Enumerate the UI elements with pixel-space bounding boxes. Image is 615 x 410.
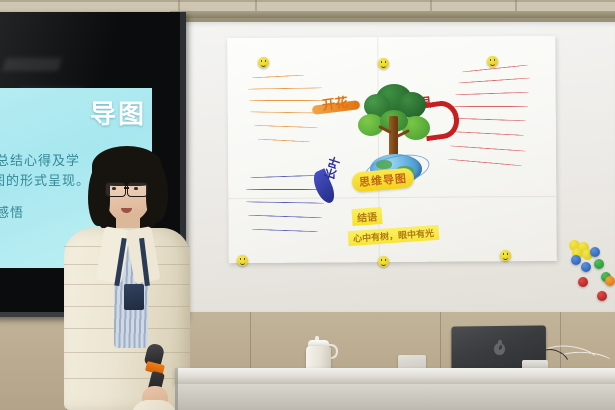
eyeglasses-left-lens (105, 182, 126, 197)
handwriting-line (246, 189, 322, 190)
eyeglasses-bridge (124, 187, 129, 189)
smiley-magnet[interactable] (500, 250, 511, 261)
magnet-dot-blue[interactable] (590, 247, 600, 257)
desk-front-panel (175, 384, 615, 410)
smiley-magnet[interactable] (237, 255, 248, 266)
branch-label-bloom: 开花 (321, 91, 349, 113)
magnet-dot-red[interactable] (578, 277, 588, 287)
poster-footer-label: 结语 (351, 207, 382, 226)
presenter (62, 148, 192, 410)
magnet-dot-red[interactable] (597, 291, 607, 301)
presenter-desk (175, 368, 615, 384)
tree-illustration (356, 84, 434, 176)
classroom-scene: 开花 扎根 长叶 思维导图 结语 心中有树，眼中有光 (0, 0, 615, 410)
magnet-dot-orange[interactable] (605, 276, 615, 286)
magnet-dot-green[interactable] (594, 259, 604, 269)
smiley-magnet[interactable] (258, 57, 269, 68)
desk-edge (175, 368, 178, 410)
apple-logo-icon (494, 343, 505, 355)
wall-seam (0, 0, 615, 2)
slide-title: 导图 (90, 94, 146, 131)
eyeglasses-right-lens (127, 182, 148, 197)
magnet-dot-blue[interactable] (581, 262, 591, 272)
smiley-magnet[interactable] (378, 256, 389, 267)
badge (124, 284, 144, 310)
hair-side-right (146, 162, 168, 222)
smiley-magnet[interactable] (487, 56, 498, 67)
magnet-dot-blue[interactable] (571, 255, 581, 265)
smiley-magnet[interactable] (378, 58, 389, 69)
